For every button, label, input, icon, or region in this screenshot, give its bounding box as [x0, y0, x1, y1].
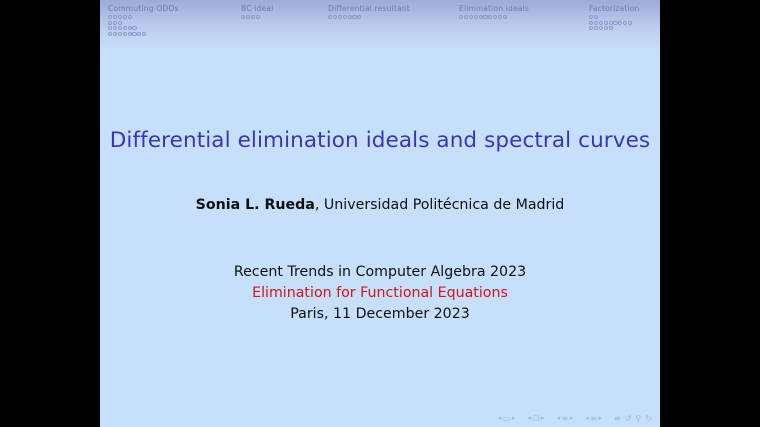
document-nav-icon[interactable]: ≡ [614, 414, 621, 423]
search-nav-icon[interactable]: ⚲ [635, 414, 641, 423]
nav-prev-arrow-icon[interactable]: ◂ [585, 415, 589, 422]
nav-prev-arrow-icon[interactable]: ◂ [557, 415, 561, 422]
event-block: Recent Trends in Computer Algebra 2023El… [100, 262, 660, 325]
nav-next-arrow-icon[interactable]: ▸ [599, 415, 603, 422]
nav-next-arrow-icon[interactable]: ▸ [512, 415, 516, 422]
nav-next-arrow-icon[interactable]: ▸ [570, 415, 574, 422]
slide-canvas: Commuting ODOsBC idealDifferential resul… [100, 0, 660, 427]
subsection-nav[interactable]: ◂≡▸ [557, 414, 574, 423]
nav-prev-arrow-icon[interactable]: ◂ [527, 415, 531, 422]
first-frame-nav[interactable]: ◂▭▸ [498, 414, 516, 423]
nav-next-arrow-icon[interactable]: ▸ [541, 415, 545, 422]
forward-nav-icon[interactable]: ↻ [645, 414, 652, 423]
author-name: Sonia L. Rueda [196, 197, 315, 213]
author-line: Sonia L. Rueda, Universidad Politécnica … [100, 196, 660, 215]
beamer-navigation-symbols[interactable]: ◂▭▸◂❐▸◂≡▸◂≡▸≡↺⚲↻ [498, 414, 652, 423]
event-line: Elimination for Functional Equations [100, 283, 660, 304]
author-affiliation: , Universidad Politécnica de Madrid [315, 197, 564, 213]
nav-target-icon[interactable]: ≡ [562, 414, 569, 423]
nav-target-icon[interactable]: ❐ [532, 414, 539, 423]
nav-target-icon[interactable]: ▭ [503, 414, 511, 423]
presentation-viewer: Commuting ODOsBC idealDifferential resul… [0, 0, 760, 427]
back-nav-icon[interactable]: ↺ [625, 414, 632, 423]
event-line: Paris, 11 December 2023 [100, 304, 660, 325]
title-block: Differential elimination ideals and spec… [100, 0, 660, 427]
previous-frame-nav[interactable]: ◂❐▸ [527, 414, 544, 423]
nav-target-icon[interactable]: ≡ [590, 414, 597, 423]
nav-prev-arrow-icon[interactable]: ◂ [498, 415, 502, 422]
page-title: Differential elimination ideals and spec… [100, 128, 660, 154]
section-nav[interactable]: ◂≡▸ [585, 414, 602, 423]
event-line: Recent Trends in Computer Algebra 2023 [100, 262, 660, 283]
